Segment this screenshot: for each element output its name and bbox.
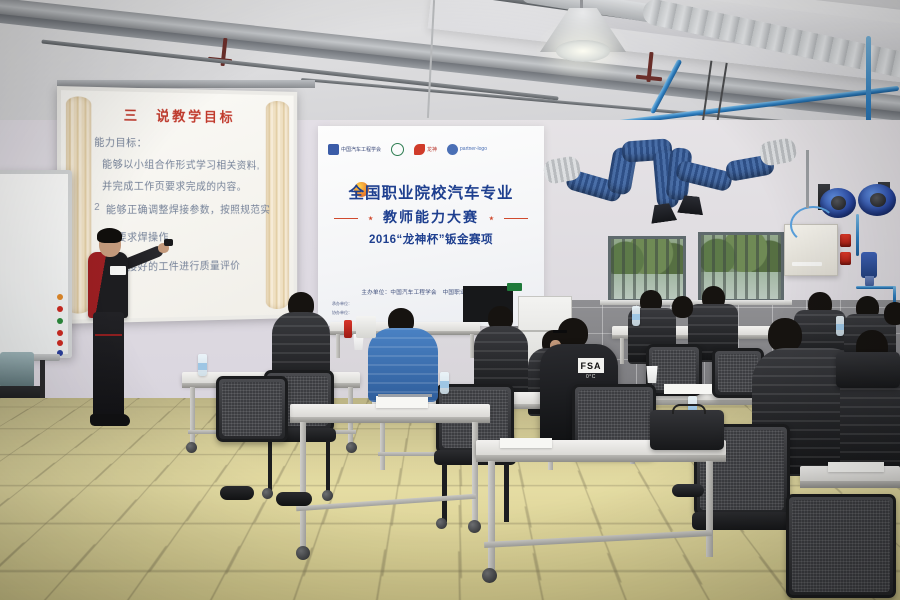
table-edge	[800, 481, 900, 488]
banner-title-line2-text: 教师能力大赛	[383, 209, 479, 225]
table-caster	[468, 520, 481, 533]
sponsor-logo: 中国汽车工程学会	[328, 144, 381, 155]
blue-air-hose	[790, 206, 836, 244]
electrical-box-label	[792, 262, 822, 266]
water-bottle	[632, 306, 640, 326]
sponsor-logo-label: 中国汽车工程学会	[341, 146, 381, 153]
red-bottle	[344, 320, 352, 338]
slide-body-line: 训要求焊操作	[106, 229, 267, 245]
power-socket-red	[840, 234, 851, 247]
chair-caster	[322, 490, 333, 501]
chair-leg	[326, 440, 330, 492]
sponsor-logo-mark-icon	[414, 144, 425, 155]
table-leg	[336, 334, 340, 358]
table-edge	[476, 455, 726, 462]
hose-reel-hub	[831, 196, 846, 210]
chair-caster	[436, 518, 447, 529]
chair-leg	[504, 464, 509, 522]
sponsor-ring-logo-icon	[391, 143, 404, 156]
document-sheet	[500, 438, 552, 448]
magnet-red	[57, 340, 63, 346]
water-bottle	[836, 316, 844, 336]
table-leg	[190, 387, 195, 445]
table-caster	[186, 442, 197, 453]
laptop-bag-foreground	[836, 352, 900, 388]
banner-rule	[504, 218, 528, 220]
attendee-shoe	[276, 492, 312, 506]
hose-reel-hub	[870, 193, 886, 207]
chair-leg	[442, 464, 447, 522]
bag-handle	[672, 404, 706, 414]
attendee-head	[884, 302, 900, 325]
power-socket-red	[840, 252, 851, 265]
banner-co-organizer-1: 承办单位：	[332, 301, 404, 307]
water-bottle	[440, 372, 449, 394]
table-leg	[706, 461, 713, 557]
sponsor-logo-label: 龙神	[427, 146, 437, 153]
table-leg	[488, 461, 495, 573]
water-bottle	[198, 354, 207, 376]
slide-heading: 能力目标：	[94, 135, 266, 152]
table-caster	[346, 442, 357, 453]
presenter-shoes	[90, 414, 130, 426]
presenter-hair	[97, 228, 122, 243]
chair-leg	[268, 440, 272, 492]
air-line-pipe	[856, 214, 859, 256]
magnet-red	[57, 306, 63, 312]
magnet-red	[57, 330, 63, 336]
table-leg	[472, 422, 478, 524]
pendant-light-bulb	[556, 40, 610, 62]
chair-foreground	[786, 494, 896, 598]
magnet-green	[57, 318, 63, 324]
attendee-head	[768, 318, 802, 352]
bottle-label	[440, 381, 449, 388]
equipment-cart	[0, 352, 34, 388]
clipboard	[378, 394, 432, 397]
glasses-icon	[553, 330, 567, 333]
thermos-container	[356, 316, 376, 338]
attendee-blue-puffer-jacket	[368, 328, 438, 402]
air-line-pipe	[856, 286, 896, 289]
banner-title-line2: 教师能力大赛	[318, 207, 544, 227]
banner-sponsor-logos: 中国汽车工程学会 龙神 partner-logo	[328, 140, 534, 158]
slide-body-line: 能够以小组合作形式学习相关资料,	[102, 156, 267, 172]
banner-rule	[334, 218, 358, 220]
sponsor-logo	[391, 143, 404, 156]
classroom-photo: 三 说教学目标 能力目标： 能够以小组合作形式学习相关资料, 并完成工作页要求完…	[0, 0, 900, 600]
attendee-shoe	[220, 486, 254, 500]
table-leg	[620, 338, 624, 364]
attendee-head	[672, 296, 693, 318]
slide-bullet-number: 2	[94, 202, 99, 213]
air-filter-regulator	[861, 252, 877, 278]
mobile-whiteboard	[0, 170, 72, 358]
presenter-trouser-stripe	[95, 334, 122, 336]
magnet-orange	[57, 294, 63, 300]
sponsor-logo: 龙神	[414, 144, 437, 155]
sponsor-logo-mark-icon	[328, 144, 339, 155]
table-caster	[482, 568, 497, 583]
presenter-trousers	[93, 312, 124, 420]
document-sheet	[828, 462, 884, 472]
chair-caster	[262, 488, 273, 499]
wall-conduit	[806, 150, 809, 208]
banner-title-line3: 2016“龙神杯”钣金赛项	[318, 231, 544, 247]
document-sheet	[664, 384, 712, 394]
slide-body-line: 能够正确调整焊接参数，按照规范实	[106, 202, 267, 217]
chair-mesh-back	[222, 382, 282, 436]
chair-mesh-back	[792, 500, 890, 592]
presenter-jacket	[88, 252, 128, 318]
sponsor-logo-mark-icon	[447, 144, 458, 155]
banner-title-line1: 全国职业院校汽车专业	[318, 181, 544, 203]
slide-title: 三 说教学目标	[94, 105, 263, 128]
laptop-bag	[650, 410, 724, 450]
banner-star-icon	[368, 216, 373, 221]
presenter-name-badge	[110, 266, 126, 275]
sponsor-logo-label: partner-logo	[460, 146, 487, 152]
banner-star-icon	[489, 216, 494, 221]
exit-sign	[507, 283, 522, 291]
bottle-label	[836, 324, 844, 330]
attendee-shoe	[672, 484, 704, 497]
table-leg	[300, 422, 306, 550]
table-caster	[296, 546, 310, 560]
bottle-label	[632, 314, 640, 320]
jacket-fsa-subtext: 0°C	[586, 374, 596, 380]
bottle-label	[198, 363, 207, 370]
sponsor-logo: partner-logo	[447, 144, 487, 155]
document-sheet	[376, 396, 428, 408]
jacket-fsa-text: FSA	[578, 358, 604, 373]
chair	[216, 376, 288, 442]
slide-body-line: 并完成工作页要求完成的内容。	[102, 178, 267, 193]
presentation-clicker	[164, 239, 173, 246]
table-edge	[290, 417, 490, 423]
